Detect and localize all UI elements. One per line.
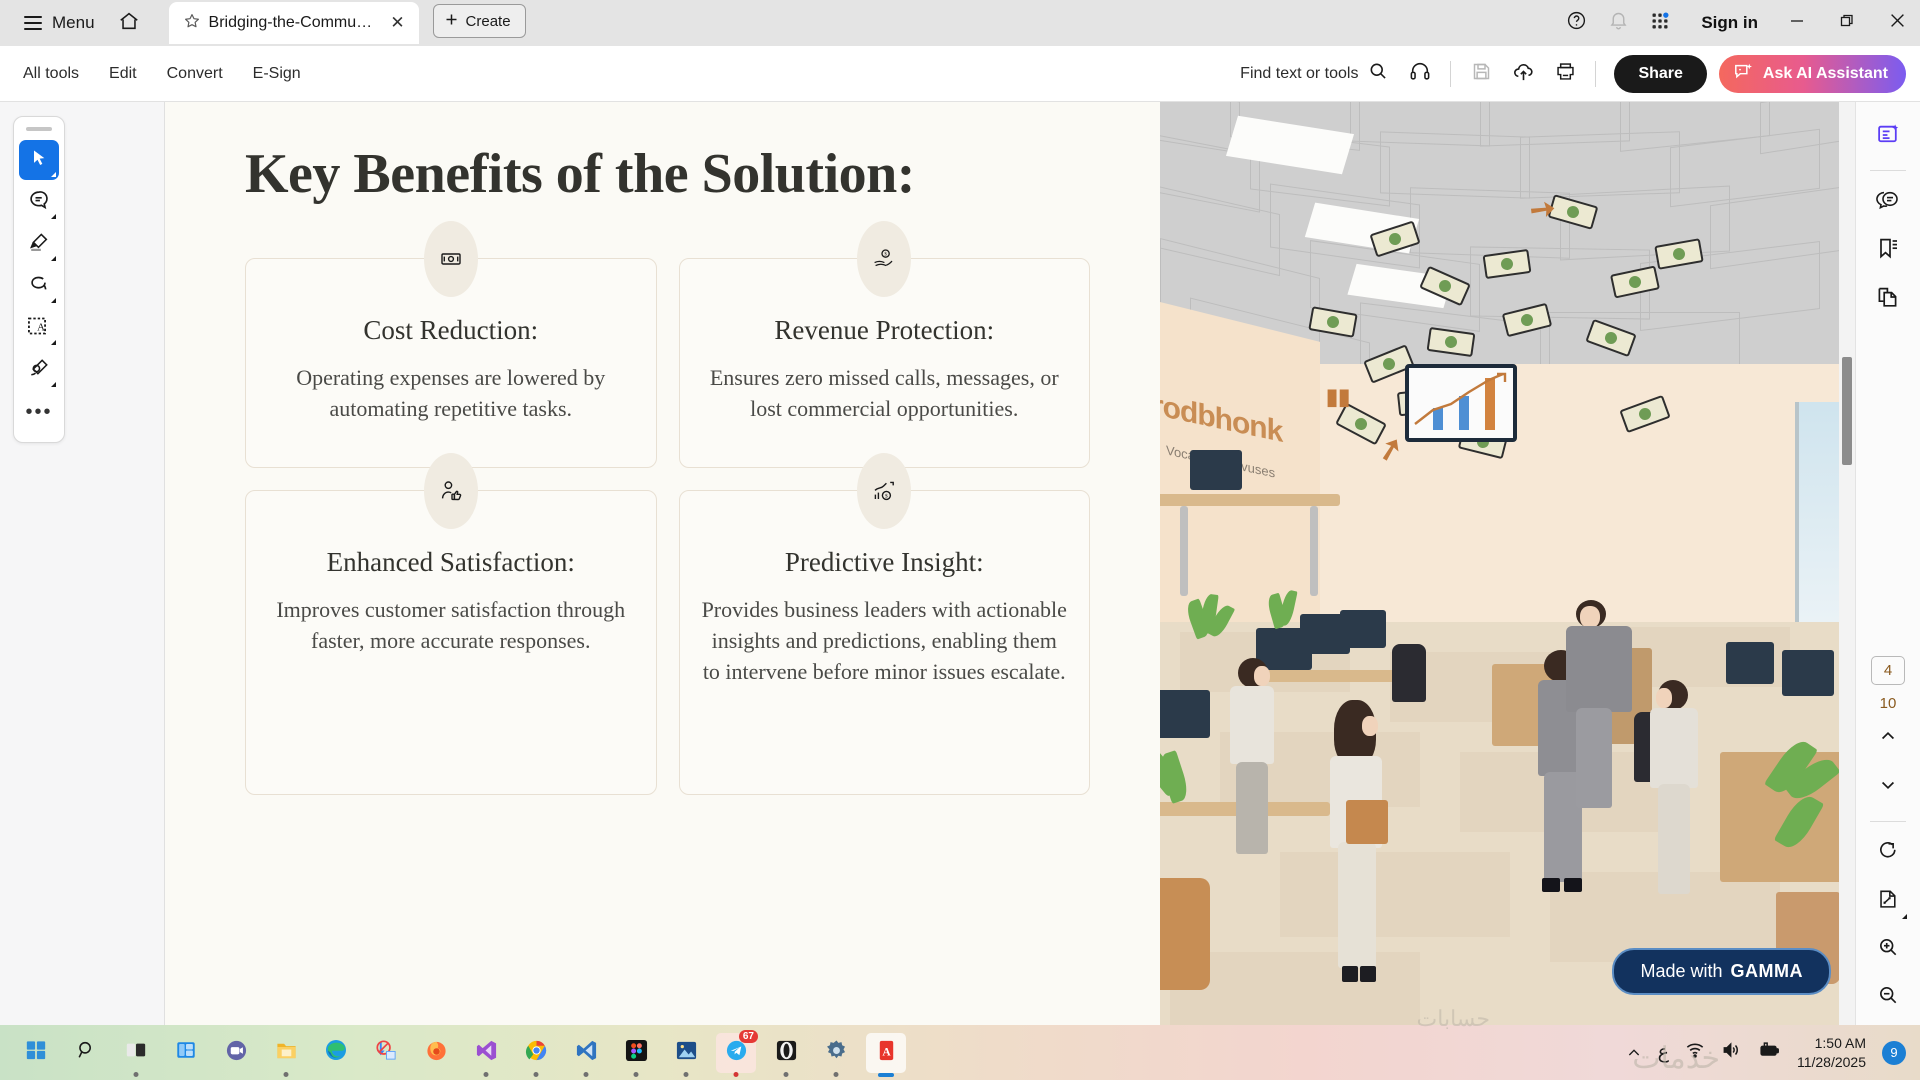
- zoom-in-button[interactable]: [1866, 928, 1910, 970]
- help-button[interactable]: [1557, 4, 1595, 42]
- tool-expand-caret[interactable]: [51, 214, 56, 219]
- running-indicator: [634, 1072, 639, 1077]
- app-grid-icon: [1650, 11, 1670, 36]
- running-indicator: [134, 1072, 139, 1077]
- battery-button[interactable]: [1757, 1040, 1781, 1065]
- edge-browser-app[interactable]: [316, 1033, 356, 1073]
- rotate-page-button[interactable]: [1866, 832, 1910, 874]
- select-tool[interactable]: [19, 140, 59, 180]
- firefox-app[interactable]: [416, 1033, 456, 1073]
- watermark-primary: خدمات: [1632, 1041, 1720, 1076]
- notifications-button[interactable]: [1599, 4, 1637, 42]
- figma-app[interactable]: [616, 1033, 656, 1073]
- ask-ai-assistant-button[interactable]: Ask AI Assistant: [1719, 55, 1906, 93]
- tool-expand-caret[interactable]: [51, 172, 56, 177]
- benefit-card-grid: Cost Reduction: Operating expenses are l…: [245, 258, 1090, 795]
- made-with-gamma-badge[interactable]: Made with GAMMA: [1612, 948, 1831, 995]
- text-box-tool[interactable]: A: [19, 308, 59, 348]
- visual-studio-icon: [475, 1039, 498, 1067]
- notification-count-badge[interactable]: 9: [1882, 1041, 1906, 1065]
- running-indicator: [484, 1072, 489, 1077]
- signature-pen-icon: [28, 357, 50, 384]
- total-pages-label: 10: [1880, 695, 1897, 712]
- tool-expand-caret[interactable]: [51, 382, 56, 387]
- print-button[interactable]: [1545, 54, 1585, 94]
- highlighter-pen-icon: [28, 231, 50, 258]
- slide-illustration: rodbhonk Vocacap hoevuses: [1160, 102, 1855, 1025]
- create-label: Create: [466, 13, 511, 30]
- widgets-button[interactable]: [166, 1033, 206, 1073]
- right-rail-divider: [1870, 170, 1906, 171]
- monitor: [1726, 642, 1774, 684]
- document-viewport: Key Benefits of the Solution: Cost Reduc…: [165, 102, 1855, 1025]
- restore-icon: [1840, 14, 1854, 33]
- plus-icon: [444, 12, 459, 31]
- create-button[interactable]: Create: [433, 4, 526, 38]
- tab-esign[interactable]: E-Sign: [240, 58, 314, 90]
- window-titlebar: Menu Bridging-the-Communic... ✕ Create: [0, 0, 1920, 46]
- clock-date: 11/28/2025: [1797, 1053, 1866, 1072]
- widgets-icon: [175, 1039, 197, 1066]
- card-body: Operating expenses are lowered by automa…: [268, 362, 634, 424]
- tool-expand-caret[interactable]: [51, 340, 56, 345]
- menu-label: Menu: [52, 13, 95, 33]
- menu-button[interactable]: Menu: [14, 6, 105, 40]
- benefit-card: $ Predictive Insight: Provides business …: [679, 490, 1091, 795]
- chevron-up-icon: [1878, 726, 1898, 751]
- telegram-icon: [725, 1039, 748, 1067]
- tool-expand-caret[interactable]: [51, 298, 56, 303]
- card-body: Ensures zero missed calls, messages, or …: [702, 362, 1068, 424]
- person-thumbs-up-icon: [424, 453, 478, 529]
- running-indicator: [684, 1072, 689, 1077]
- opera-icon: [775, 1039, 798, 1067]
- titlebar-right-group: Sign in: [1557, 0, 1920, 46]
- highlight-tool[interactable]: [19, 224, 59, 264]
- download-tool-icon: [375, 1039, 398, 1067]
- running-indicator: [284, 1072, 289, 1077]
- right-rail-divider-2: [1870, 821, 1906, 822]
- vscode-app[interactable]: [566, 1033, 606, 1073]
- next-page-button[interactable]: [1866, 766, 1910, 808]
- windows-logo-icon: [25, 1039, 47, 1066]
- tab-convert[interactable]: Convert: [154, 58, 236, 90]
- running-indicator: [834, 1072, 839, 1077]
- rotate-cw-icon: [1877, 839, 1899, 866]
- document-scrollbar-track[interactable]: [1839, 102, 1855, 1025]
- hamburger-icon: [24, 16, 42, 30]
- toolbar-right-group: Find text or tools: [1230, 54, 1920, 94]
- toolbar-left-group: All tools Edit Convert E-Sign: [0, 58, 314, 90]
- ai-assistant-panel-button[interactable]: [1866, 116, 1910, 158]
- running-indicator: [734, 1072, 739, 1077]
- teams-icon: [225, 1039, 248, 1067]
- running-indicator: [534, 1072, 539, 1077]
- toolbar-divider-2: [1595, 61, 1596, 87]
- tab-edit[interactable]: Edit: [96, 58, 150, 90]
- fit-page-icon: [1877, 888, 1899, 915]
- taskbar-apps: 67 A: [0, 1033, 906, 1073]
- start-button[interactable]: [16, 1033, 56, 1073]
- telegram-app[interactable]: 67: [716, 1033, 756, 1073]
- card-title: Revenue Protection:: [702, 315, 1068, 346]
- tool-expand-caret[interactable]: [51, 256, 56, 261]
- drag-handle[interactable]: [26, 127, 52, 131]
- firefox-icon: [425, 1039, 448, 1067]
- wall-monitor-chart: [1405, 364, 1517, 442]
- apps-button[interactable]: [1641, 4, 1679, 42]
- clock[interactable]: 1:50 AM 11/28/2025: [1797, 1034, 1866, 1072]
- minimize-button[interactable]: [1774, 0, 1820, 46]
- read-aloud-button[interactable]: [1400, 54, 1440, 94]
- cursor-arrow-icon: [29, 148, 49, 173]
- svg-text:A: A: [37, 321, 45, 333]
- search-button[interactable]: [66, 1033, 106, 1073]
- settings-gear-icon: [825, 1039, 848, 1067]
- photos-icon: [675, 1039, 698, 1067]
- settings-app[interactable]: [816, 1033, 856, 1073]
- page-thumbnails-panel-button[interactable]: [1866, 278, 1910, 320]
- fit-page-caret[interactable]: [1902, 914, 1907, 919]
- sign-in-button[interactable]: Sign in: [1689, 6, 1770, 40]
- tab-close-icon[interactable]: ✕: [387, 12, 409, 34]
- opera-app[interactable]: [766, 1033, 806, 1073]
- slide-content-left: Key Benefits of the Solution: Cost Reduc…: [165, 102, 1160, 1025]
- svg-text:$: $: [885, 492, 888, 499]
- figma-icon: [625, 1039, 648, 1067]
- tool-strip: A •••: [13, 116, 65, 443]
- card-title: Enhanced Satisfaction:: [268, 547, 634, 578]
- titlebar-left-group: Menu Bridging-the-Communic... ✕ Create: [0, 0, 526, 46]
- slide-title: Key Benefits of the Solution:: [245, 142, 1160, 206]
- previous-page-button[interactable]: [1866, 718, 1910, 760]
- running-indicator-active: [878, 1073, 894, 1077]
- pdf-page: Key Benefits of the Solution: Cost Reduc…: [165, 102, 1855, 1025]
- monitor: [1160, 690, 1210, 738]
- running-indicator: [784, 1072, 789, 1077]
- document-scrollbar-thumb[interactable]: [1842, 357, 1852, 465]
- wicker-basket: [1160, 878, 1210, 990]
- cloud-save-button[interactable]: [1503, 54, 1543, 94]
- toolbar-divider-1: [1450, 61, 1451, 87]
- banknote-icon: [424, 221, 478, 297]
- desk: [1160, 494, 1340, 506]
- text-select-box-icon: A: [26, 315, 52, 342]
- task-view-button[interactable]: [116, 1033, 156, 1073]
- tab-all-tools[interactable]: All tools: [10, 58, 92, 90]
- chart-growth-dollar-icon: $: [857, 453, 911, 529]
- file-explorer-app[interactable]: [266, 1033, 306, 1073]
- vscode-icon: [575, 1039, 598, 1067]
- chrome-app[interactable]: [516, 1033, 556, 1073]
- ai-sparkle-icon: [1733, 61, 1754, 87]
- window-close-icon: [1890, 13, 1905, 33]
- home-icon: [118, 10, 140, 37]
- card-title: Predictive Insight:: [702, 547, 1068, 578]
- page-number-input[interactable]: 4: [1871, 656, 1905, 685]
- downloader-app[interactable]: [366, 1033, 406, 1073]
- zoom-out-icon: [1877, 984, 1899, 1011]
- comment-stack-icon: [1876, 188, 1900, 217]
- acrobat-app[interactable]: A: [866, 1033, 906, 1073]
- ai-label: Ask AI Assistant: [1763, 65, 1888, 83]
- comment-bubble-icon: [28, 189, 50, 216]
- acrobat-icon: A: [875, 1039, 898, 1067]
- windows-taskbar: حسابات: [0, 1025, 1920, 1080]
- cloud-upload-icon: [1512, 60, 1535, 88]
- benefit-card: $ Revenue Protection: Ensures zero misse…: [679, 258, 1091, 468]
- card-title: Cost Reduction:: [268, 315, 634, 346]
- running-indicator: [584, 1072, 589, 1077]
- card-body: Provides business leaders with actionabl…: [702, 594, 1068, 688]
- search-placeholder: Find text or tools: [1240, 65, 1358, 83]
- fill-sign-tool[interactable]: [19, 350, 59, 390]
- photos-app[interactable]: [666, 1033, 706, 1073]
- teams-app[interactable]: [216, 1033, 256, 1073]
- office-chair: [1392, 644, 1426, 702]
- comments-panel-button[interactable]: [1866, 181, 1910, 223]
- home-button[interactable]: [109, 6, 149, 40]
- maximize-button[interactable]: [1824, 0, 1870, 46]
- monitor: [1340, 610, 1386, 648]
- search-magnifier-icon: [75, 1039, 97, 1066]
- save-floppy-icon: [1471, 61, 1492, 87]
- headphones-icon: [1409, 60, 1431, 87]
- task-view-icon: [125, 1039, 147, 1066]
- desk: [1310, 506, 1318, 596]
- money-in-hand-icon: $: [857, 221, 911, 297]
- more-dots-icon: •••: [25, 402, 52, 422]
- lasso-erase-tool[interactable]: [19, 266, 59, 306]
- comment-tool[interactable]: [19, 182, 59, 222]
- desk: [1180, 506, 1188, 596]
- search-icon: [1368, 61, 1388, 86]
- monitor: [1190, 450, 1242, 490]
- chevron-down-icon: [1878, 775, 1898, 800]
- volume-icon: [1721, 1040, 1741, 1065]
- print-icon: [1555, 61, 1576, 87]
- tab-title: Bridging-the-Communic...: [209, 14, 379, 32]
- growth-arrow: ▮▮: [1326, 384, 1350, 410]
- battery-charging-icon: [1757, 1040, 1781, 1065]
- visual-studio-app[interactable]: [466, 1033, 506, 1073]
- acrobat-toolbar: All tools Edit Convert E-Sign Find text …: [0, 46, 1920, 102]
- folder-icon: [275, 1039, 298, 1067]
- clock-time: 1:50 AM: [1797, 1034, 1866, 1053]
- help-circle-icon: [1566, 10, 1587, 36]
- document-tab[interactable]: Bridging-the-Communic... ✕: [169, 2, 419, 44]
- monitor: [1782, 650, 1834, 696]
- bell-icon: [1608, 10, 1629, 36]
- benefit-card: Cost Reduction: Operating expenses are l…: [245, 258, 657, 468]
- left-tool-rail: A •••: [0, 102, 165, 1025]
- copy-pages-icon: [1876, 285, 1900, 314]
- card-body: Improves customer satisfaction through f…: [268, 594, 634, 656]
- volume-button[interactable]: [1721, 1040, 1741, 1065]
- svg-text:A: A: [882, 1046, 891, 1058]
- right-panel-rail: 4 10: [1855, 102, 1920, 1025]
- badge-prefix: Made with: [1640, 961, 1722, 982]
- edge-icon: [324, 1038, 348, 1067]
- zoom-in-icon: [1877, 936, 1899, 963]
- save-button[interactable]: [1461, 54, 1501, 94]
- benefit-card: Enhanced Satisfaction: Improves customer…: [245, 490, 657, 795]
- watermark-secondary: حسابات: [1417, 1006, 1490, 1032]
- telegram-unread-badge: 67: [739, 1030, 758, 1043]
- more-tools[interactable]: •••: [19, 392, 59, 432]
- fit-page-button[interactable]: [1866, 880, 1910, 922]
- zoom-out-button[interactable]: [1866, 977, 1910, 1019]
- bookmark-list-icon: [1876, 236, 1900, 265]
- share-button[interactable]: Share: [1614, 55, 1706, 93]
- close-window-button[interactable]: [1874, 0, 1920, 46]
- chrome-icon: [525, 1039, 548, 1067]
- minimize-icon: [1790, 14, 1804, 33]
- star-icon[interactable]: [183, 12, 201, 35]
- ai-document-icon: [1876, 122, 1901, 152]
- search-input[interactable]: Find text or tools: [1230, 55, 1398, 92]
- badge-brand: GAMMA: [1731, 961, 1804, 982]
- bookmarks-panel-button[interactable]: [1866, 230, 1910, 272]
- lasso-icon: [28, 273, 50, 300]
